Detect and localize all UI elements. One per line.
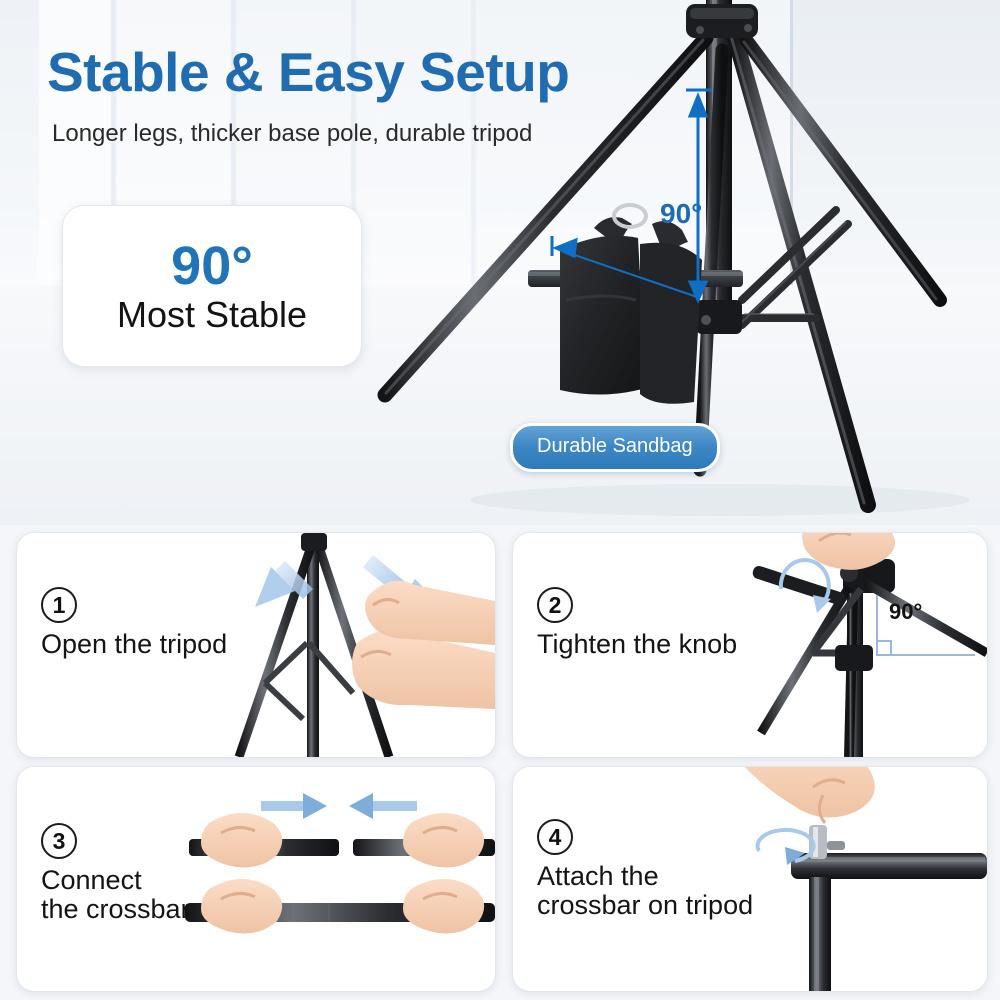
hero-section: Stable & Easy Setup Longer legs, thicker… (0, 0, 1000, 525)
step-card-1: 1 Open the tripod (16, 532, 496, 758)
step-label: Connect the crossbar (41, 866, 190, 924)
rotate-arrow-icon (758, 830, 814, 861)
step-2-angle-label: 90° (889, 599, 922, 625)
step-4-text: 4 Attach the crossbar on tripod (537, 819, 753, 920)
setup-steps-section: 1 Open the tripod (0, 528, 1000, 1000)
product-infographic: Stable & Easy Setup Longer legs, thicker… (0, 0, 1000, 1000)
step-number-badge: 4 (537, 819, 573, 855)
sandbag (560, 205, 702, 404)
step-card-3: 3 Connect the crossbar (16, 766, 496, 992)
hand-illustration (738, 767, 875, 823)
page-title: Stable & Easy Setup (47, 40, 569, 104)
page-subtitle: Longer legs, thicker base pole, durable … (52, 120, 532, 148)
step-2-text: 2 Tighten the knob (537, 587, 737, 659)
step-number-badge: 2 (537, 587, 573, 623)
step-label: Attach the crossbar on tripod (537, 862, 753, 920)
step-1-text: 1 Open the tripod (41, 587, 227, 659)
step-card-2: 90° 2 Tighten the knob (512, 532, 988, 758)
hand-illustration (352, 581, 495, 709)
step-3-text: 3 Connect the crossbar (41, 823, 190, 924)
durable-sandbag-badge: Durable Sandbag (510, 423, 720, 472)
step-label: Open the tripod (41, 630, 227, 659)
most-stable-card: 90° Most Stable (62, 205, 362, 367)
step-number-badge: 1 (41, 587, 77, 623)
arrow-icon (349, 793, 417, 819)
knob (751, 564, 858, 606)
hero-angle-annotation: 90° (660, 198, 702, 230)
arrow-icon (261, 793, 327, 819)
angle-caption: Most Stable (117, 297, 307, 333)
angle-value: 90° (171, 239, 253, 293)
step-number-badge: 3 (41, 823, 77, 859)
step-card-4: 4 Attach the crossbar on tripod (512, 766, 988, 992)
step-label: Tighten the knob (537, 630, 737, 659)
